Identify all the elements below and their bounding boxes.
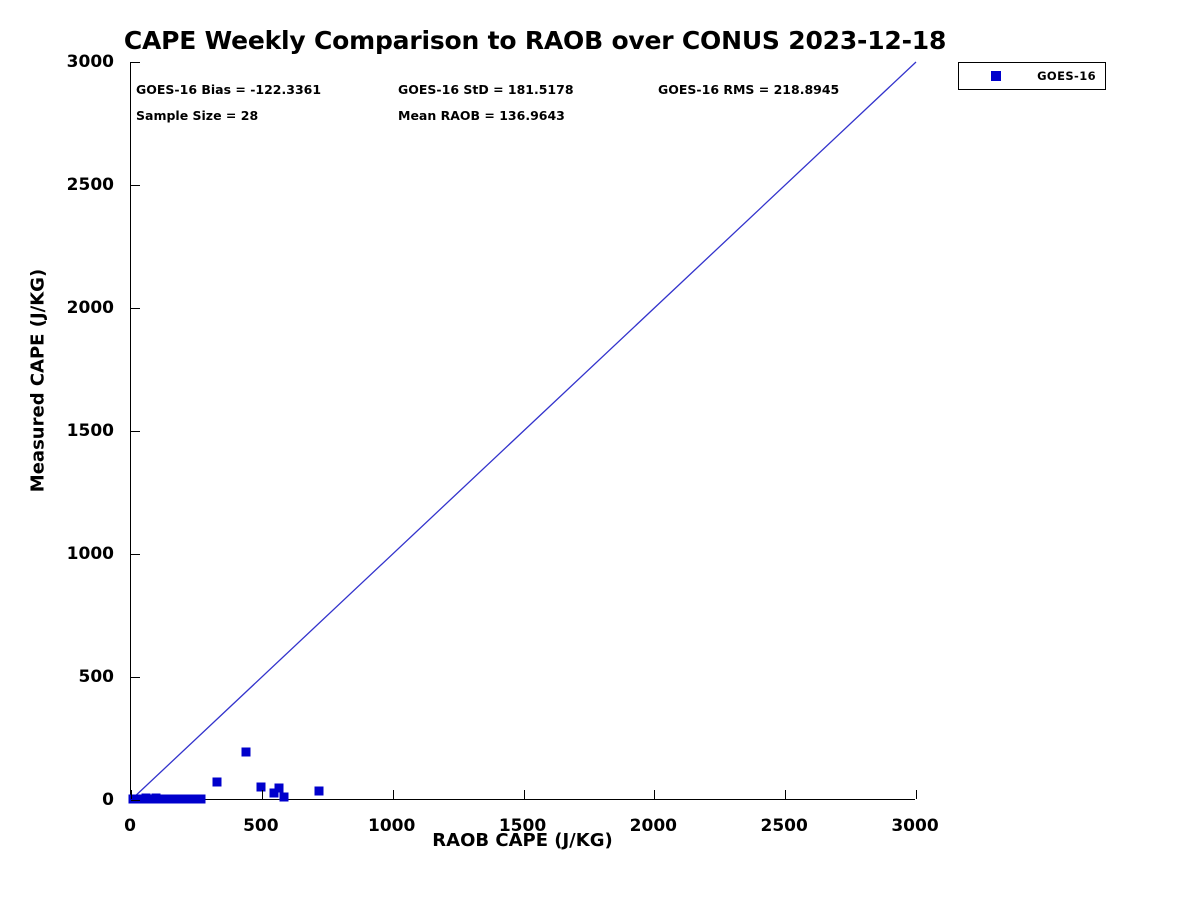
- y-tick-label: 3000: [0, 52, 114, 72]
- plot-inner: [131, 62, 915, 799]
- legend-label-goes-16: GOES-16: [1037, 69, 1096, 83]
- x-tick-mark: [131, 790, 132, 799]
- plot-area: [130, 62, 915, 800]
- chart-figure: CAPE Weekly Comparison to RAOB over CONU…: [0, 0, 1200, 900]
- x-tick-mark: [262, 790, 263, 799]
- y-tick-mark: [131, 554, 140, 555]
- legend-swatch-goes-16: [991, 71, 1001, 81]
- y-tick-label: 2500: [0, 175, 114, 195]
- x-tick-mark: [916, 790, 917, 799]
- data-point: [197, 794, 206, 803]
- y-tick-mark: [131, 800, 140, 801]
- x-tick-mark: [785, 790, 786, 799]
- data-point: [274, 784, 283, 793]
- data-point: [280, 793, 289, 802]
- page-title: CAPE Weekly Comparison to RAOB over CONU…: [0, 26, 1070, 55]
- y-tick-mark: [131, 185, 140, 186]
- data-point: [315, 787, 324, 796]
- x-axis-label: RAOB CAPE (J/KG): [130, 830, 915, 851]
- data-point: [213, 778, 222, 787]
- y-tick-mark: [131, 308, 140, 309]
- data-point: [256, 783, 265, 792]
- y-tick-label: 500: [0, 667, 114, 687]
- legend: GOES-16: [958, 62, 1106, 90]
- x-tick-mark: [524, 790, 525, 799]
- one-to-one-line: [131, 62, 916, 800]
- y-tick-label: 1500: [0, 421, 114, 441]
- reference-line-segment: [131, 62, 916, 800]
- y-tick-label: 0: [0, 790, 114, 810]
- y-tick-label: 2000: [0, 298, 114, 318]
- x-tick-mark: [654, 790, 655, 799]
- y-tick-mark: [131, 62, 140, 63]
- y-tick-mark: [131, 431, 140, 432]
- y-tick-label: 1000: [0, 544, 114, 564]
- y-axis-label: Measured CAPE (J/KG): [28, 221, 49, 541]
- y-tick-mark: [131, 677, 140, 678]
- x-tick-mark: [393, 790, 394, 799]
- data-point: [242, 747, 251, 756]
